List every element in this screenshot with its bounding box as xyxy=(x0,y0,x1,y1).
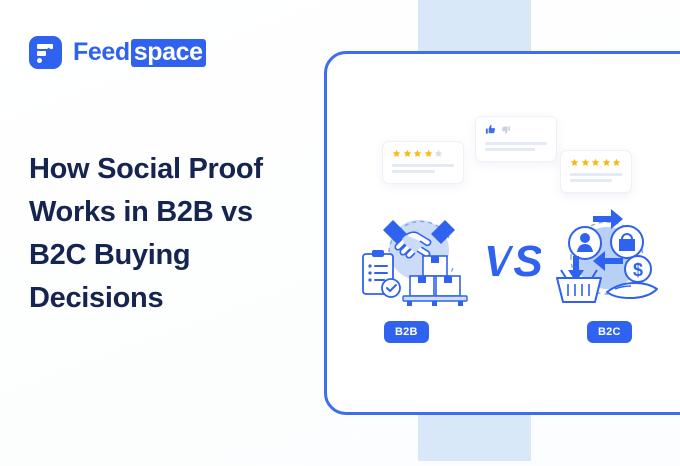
brand-logo[interactable]: Feed space xyxy=(29,36,206,69)
star-icon xyxy=(581,158,590,167)
star-icon xyxy=(602,158,611,167)
hero-illustration-card: VS $ B2B B2C xyxy=(324,51,680,415)
review-card-five-stars xyxy=(560,150,632,193)
badge-b2b: B2B xyxy=(384,321,429,343)
feedspace-f-logo-icon xyxy=(29,36,62,69)
review-card-thumbs xyxy=(475,116,557,162)
badge-b2c: B2C xyxy=(587,321,632,343)
star-icon xyxy=(591,158,600,167)
brand-word-feed: Feed xyxy=(73,40,130,65)
b2c-shopper-basket-hand-illustration: $ xyxy=(549,206,665,314)
star-icon xyxy=(413,149,422,158)
brand-word-space: space xyxy=(131,39,206,67)
placeholder-line xyxy=(485,142,547,145)
svg-text:VS: VS xyxy=(484,237,541,286)
star-icon xyxy=(424,149,433,158)
review-card-four-stars xyxy=(382,141,464,184)
placeholder-line xyxy=(392,164,454,167)
svg-text:$: $ xyxy=(633,260,643,280)
star-icon xyxy=(403,149,412,158)
brand-wordmark: Feed space xyxy=(73,39,206,67)
star-rating-group xyxy=(392,149,454,158)
placeholder-line xyxy=(485,148,535,151)
star-icon xyxy=(392,149,401,158)
placeholder-line xyxy=(392,170,435,173)
star-icon xyxy=(570,158,579,167)
thumbs-up-icon xyxy=(485,124,496,135)
placeholder-line xyxy=(570,179,612,182)
placeholder-line xyxy=(570,173,622,176)
star-icon-empty xyxy=(434,149,443,158)
thumbs-down-icon xyxy=(501,125,511,135)
star-icon xyxy=(612,158,621,167)
page-title: How Social Proof Works in B2B vs B2C Buy… xyxy=(29,148,297,320)
b2b-handshake-clipboard-pallet-illustration xyxy=(357,206,473,314)
star-rating-group xyxy=(570,158,622,167)
versus-divider-icon: VS xyxy=(481,224,541,294)
thumbs-rating-group xyxy=(485,124,547,135)
